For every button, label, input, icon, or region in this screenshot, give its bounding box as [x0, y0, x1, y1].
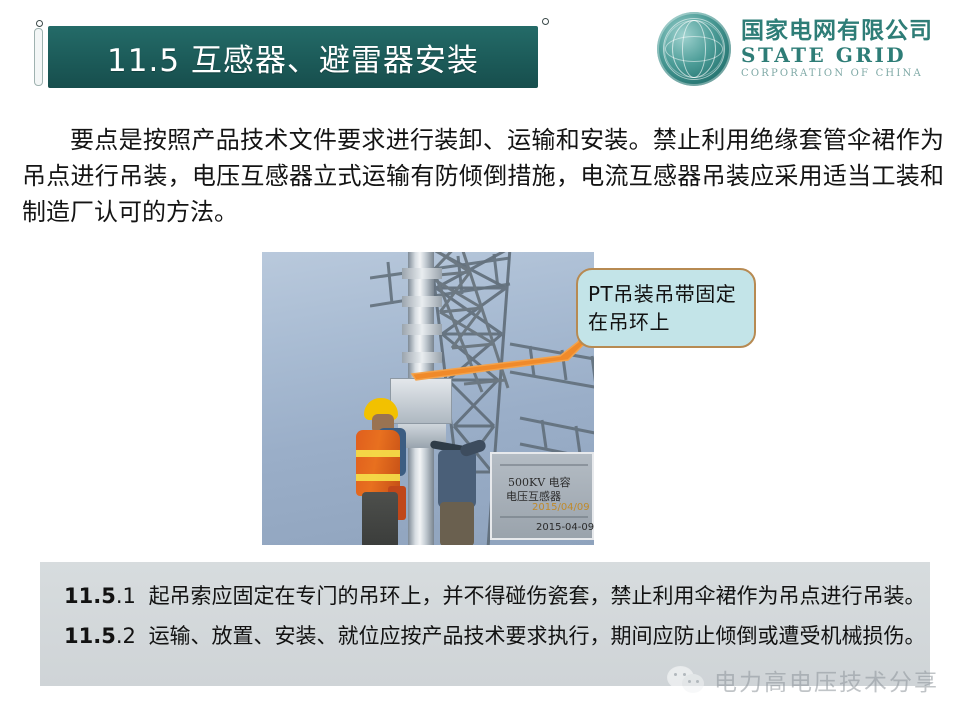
wechat-watermark: 电力高电压技术分享: [668, 660, 938, 700]
photo-callout-bubble: PT吊装吊带固定在吊环上: [576, 268, 756, 348]
title-box: 11.5 互感器、避雷器安装: [48, 26, 538, 88]
note-1-number: 11.5.1: [64, 584, 136, 608]
body-paragraph: 要点是按照产品技术文件要求进行装卸、运输和安装。禁止利用绝缘套管伞裙作为吊点进行…: [22, 122, 944, 230]
note-2-text: 运输、放置、安装、就位应按产品技术要求执行，期间应防止倾倒或遭受机械损伤。: [149, 624, 926, 648]
worker-second: [430, 438, 486, 545]
signboard-date-stamp: 2015/04/09: [532, 502, 590, 513]
note-item-1: 11.5.1 起吊索应固定在专门的吊环上，并不得碰伤瓷套，禁止利用伞裙作为吊点进…: [64, 580, 924, 610]
slide-title-bar: 11.5 互感器、避雷器安装: [34, 26, 538, 88]
shape-rotate-handle-icon[interactable]: [542, 18, 549, 25]
shape-handle-top-left-icon[interactable]: [36, 20, 43, 27]
callout-text: PT吊装吊带固定在吊环上: [578, 280, 754, 336]
project-signboard: 500KV 电容 电压互感器 2015/04/09 2015-04-09: [490, 452, 594, 540]
logo-company-en: STATE GRID: [741, 44, 933, 67]
note-2-number: 11.5.2: [64, 624, 136, 648]
title-accent-bar: [34, 28, 43, 86]
signboard-date-hand: 2015-04-09: [536, 522, 594, 533]
logo-company-cn: 国家电网有限公司: [741, 18, 933, 44]
note-item-2: 11.5.2 运输、放置、安装、就位应按产品技术要求执行，期间应防止倾倒或遭受机…: [64, 620, 924, 650]
page-title: 11.5 互感器、避雷器安装: [107, 35, 479, 80]
watermark-text: 电力高电压技术分享: [714, 663, 939, 697]
worker-with-hardhat: [348, 398, 410, 545]
state-grid-logo: 国家电网有限公司 STATE GRID CORPORATION OF CHINA: [655, 8, 955, 90]
note-1-text: 起吊索应固定在专门的吊环上，并不得碰伤瓷套，禁止利用伞裙作为吊点进行吊装。: [149, 584, 926, 608]
wechat-icon: [668, 665, 708, 695]
logo-text-block: 国家电网有限公司 STATE GRID CORPORATION OF CHINA: [741, 18, 933, 81]
logo-company-sub: CORPORATION OF CHINA: [741, 67, 933, 81]
state-grid-globe-emblem-icon: [657, 12, 731, 86]
